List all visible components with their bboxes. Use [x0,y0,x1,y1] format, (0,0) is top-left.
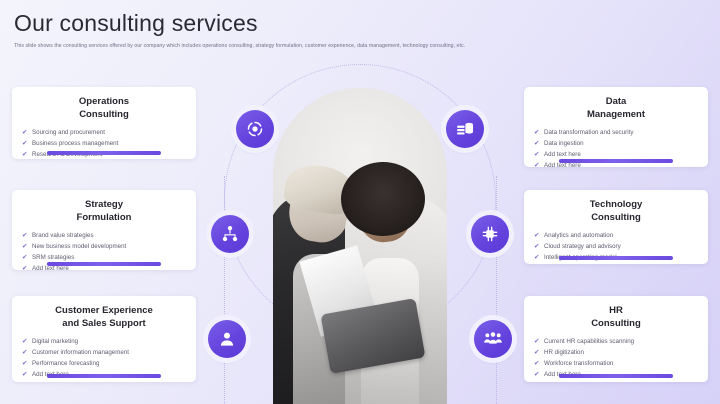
list-item-label: SRM strategies [32,254,74,261]
refresh-cycle-icon [245,119,265,139]
card-operations-consulting[interactable]: Operations Consulting ✔Sourcing and proc… [12,87,196,159]
list-item: ✔Cloud strategy and advisory [534,241,698,252]
list-item: ✔Business process management [22,138,186,149]
check-icon: ✔ [22,347,27,358]
org-hierarchy-icon [220,224,240,244]
list-item-label: New business model development [32,243,126,250]
list-item-label: Add text here [32,265,69,272]
card-accent-bar [47,151,161,155]
check-icon: ✔ [534,241,539,252]
card-customer-experience-and-sales-support[interactable]: Customer Experience and Sales Support ✔D… [12,296,196,382]
list-item: ✔HR digitization [534,347,698,358]
list-item-label: Data transformation and security [544,129,633,136]
check-icon: ✔ [22,230,27,241]
card-accent-bar [559,374,673,378]
icon-bubble-hr[interactable] [474,320,512,358]
card-title: Technology Consulting [534,199,698,224]
person-right-hair [341,162,425,236]
microchip-icon [480,224,500,244]
database-server-icon [455,119,475,139]
card-bullet-list: ✔Data transformation and security ✔Data … [534,127,698,171]
list-item: ✔Data ingestion [534,138,698,149]
check-icon: ✔ [534,160,539,171]
check-icon: ✔ [22,138,27,149]
check-icon: ✔ [534,230,539,241]
card-strategy-formulation[interactable]: Strategy Formulation ✔Brand value strate… [12,190,196,270]
center-photo [273,88,447,404]
list-item: ✔Digital marketing [22,336,186,347]
list-item: ✔Sourcing and procurement [22,127,186,138]
card-accent-bar [559,256,673,260]
card-title: HR Consulting [534,305,698,330]
check-icon: ✔ [534,127,539,138]
icon-bubble-customer-experience[interactable] [208,320,246,358]
team-group-icon [483,329,503,349]
list-item: ✔Performance forecasting [22,358,186,369]
check-icon: ✔ [534,347,539,358]
card-hr-consulting[interactable]: HR Consulting ✔Current HR capabilities s… [524,296,708,382]
list-item-label: Cloud strategy and advisory [544,243,621,250]
check-icon: ✔ [534,149,539,160]
check-icon: ✔ [22,369,27,380]
dotted-line-right [496,176,497,404]
card-bullet-list: ✔Sourcing and procurement ✔Business proc… [22,127,186,160]
user-profile-icon [217,329,237,349]
list-item-label: Add text here [544,151,581,158]
dotted-line-left [224,176,225,404]
list-item-label: Add text here [544,162,581,169]
card-title: Operations Consulting [22,96,186,121]
list-item: ✔Current HR capabilities scanning [534,336,698,347]
list-item-label: Digital marketing [32,338,78,345]
list-item-label: Data ingestion [544,140,584,147]
list-item-label: Analytics and automation [544,232,613,239]
card-bullet-list: ✔Brand value strategies ✔New business mo… [22,230,186,274]
list-item: ✔New business model development [22,241,186,252]
list-item-label: Customer information management [32,349,129,356]
list-item-label: Current HR capabilities scanning [544,338,634,345]
check-icon: ✔ [22,149,27,160]
check-icon: ✔ [22,127,27,138]
check-icon: ✔ [22,241,27,252]
list-item: ✔Workforce transformation [534,358,698,369]
list-item-label: Brand value strategies [32,232,94,239]
page-title: Our consulting services [14,10,706,37]
icon-bubble-strategy[interactable] [211,215,249,253]
list-item-label: Workforce transformation [544,360,613,367]
page-subtitle: This slide shows the consulting services… [14,43,706,49]
check-icon: ✔ [22,263,27,274]
list-item: ✔Customer information management [22,347,186,358]
card-accent-bar [47,262,161,266]
list-item-label: Performance forecasting [32,360,99,367]
card-technology-consulting[interactable]: Technology Consulting ✔Analytics and aut… [524,190,708,264]
card-accent-bar [559,159,673,163]
card-title: Strategy Formulation [22,199,186,224]
list-item: ✔Brand value strategies [22,230,186,241]
check-icon: ✔ [22,358,27,369]
list-item-label: HR digitization [544,349,584,356]
icon-bubble-operations[interactable] [236,110,274,148]
card-accent-bar [47,374,161,378]
check-icon: ✔ [534,252,539,263]
card-data-management[interactable]: Data Management ✔Data transformation and… [524,87,708,167]
icon-bubble-technology[interactable] [471,215,509,253]
check-icon: ✔ [22,336,27,347]
check-icon: ✔ [534,369,539,380]
slide-header: Our consulting services This slide shows… [14,10,706,49]
list-item-label: Sourcing and procurement [32,129,105,136]
check-icon: ✔ [534,138,539,149]
list-item-label: Business process management [32,140,118,147]
list-item: ✔Data transformation and security [534,127,698,138]
list-item: ✔Analytics and automation [534,230,698,241]
icon-bubble-data-management[interactable] [446,110,484,148]
card-title: Customer Experience and Sales Support [22,305,186,330]
card-title: Data Management [534,96,698,121]
check-icon: ✔ [22,252,27,263]
check-icon: ✔ [534,358,539,369]
check-icon: ✔ [534,336,539,347]
